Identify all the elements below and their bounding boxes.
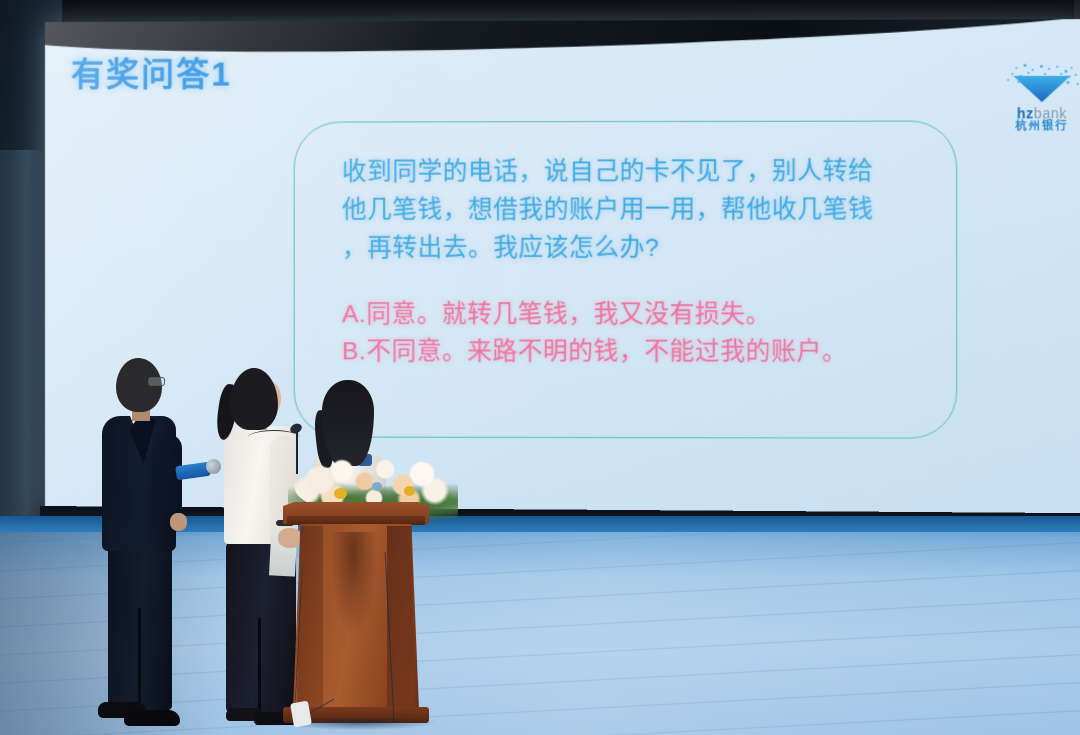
answer-options: A.同意。就转几笔钱，我又没有损失。 B.不同意。来路不明的钱，不能过我的账户。 xyxy=(342,296,950,371)
person-host-with-microphone xyxy=(96,358,206,735)
logo-chinese-text: 杭州银行 xyxy=(998,120,1080,133)
host-glasses-icon xyxy=(148,377,165,386)
hzbank-logo: hzbank 杭州银行 xyxy=(998,64,1080,134)
host-hand xyxy=(170,513,187,531)
logo-wordmark: hzbank xyxy=(998,106,1080,120)
logo-diamond-shape-icon xyxy=(1013,76,1070,102)
lectern-shadow xyxy=(331,532,377,636)
question-line-1: 收到同学的电话，说自己的卡不见了，别人转给 xyxy=(342,153,950,192)
logo-hz-text: hz xyxy=(1017,105,1034,121)
page-title: 有奖问答1 xyxy=(71,48,232,96)
option-a: A.同意。就转几笔钱，我又没有损失。 xyxy=(342,296,950,334)
lectern-left-panel xyxy=(297,526,323,708)
assistant-hair xyxy=(230,368,278,430)
backstage-panel xyxy=(0,150,44,550)
flower-yellow-accent-2 xyxy=(404,486,415,496)
lectern-front-lip xyxy=(287,516,425,525)
floor-power-plug xyxy=(290,701,312,728)
assistant-leg-separation xyxy=(258,618,261,712)
host-shoe-right xyxy=(124,710,180,726)
option-b: B.不同意。来路不明的钱，不能过我的账户。 xyxy=(342,333,950,371)
host-leg-separation xyxy=(138,608,141,710)
flower-yellow-accent-1 xyxy=(334,488,347,499)
question-line-2: 他几笔钱，想借我的账户用一用，帮他收几笔钱 xyxy=(342,191,950,230)
hzbank-diamond-icon xyxy=(1005,64,1079,105)
flower-blue-accent xyxy=(372,482,382,491)
question-line-3: ，再转出去。我应该怎么办? xyxy=(342,230,950,268)
logo-bank-text: bank xyxy=(1034,105,1067,121)
screenshot-root: 有奖问答1 hzbank xyxy=(0,0,1080,735)
question-content: 收到同学的电话，说自己的卡不见了，别人转给 他几笔钱，想借我的账户用一用，帮他收… xyxy=(342,153,950,371)
